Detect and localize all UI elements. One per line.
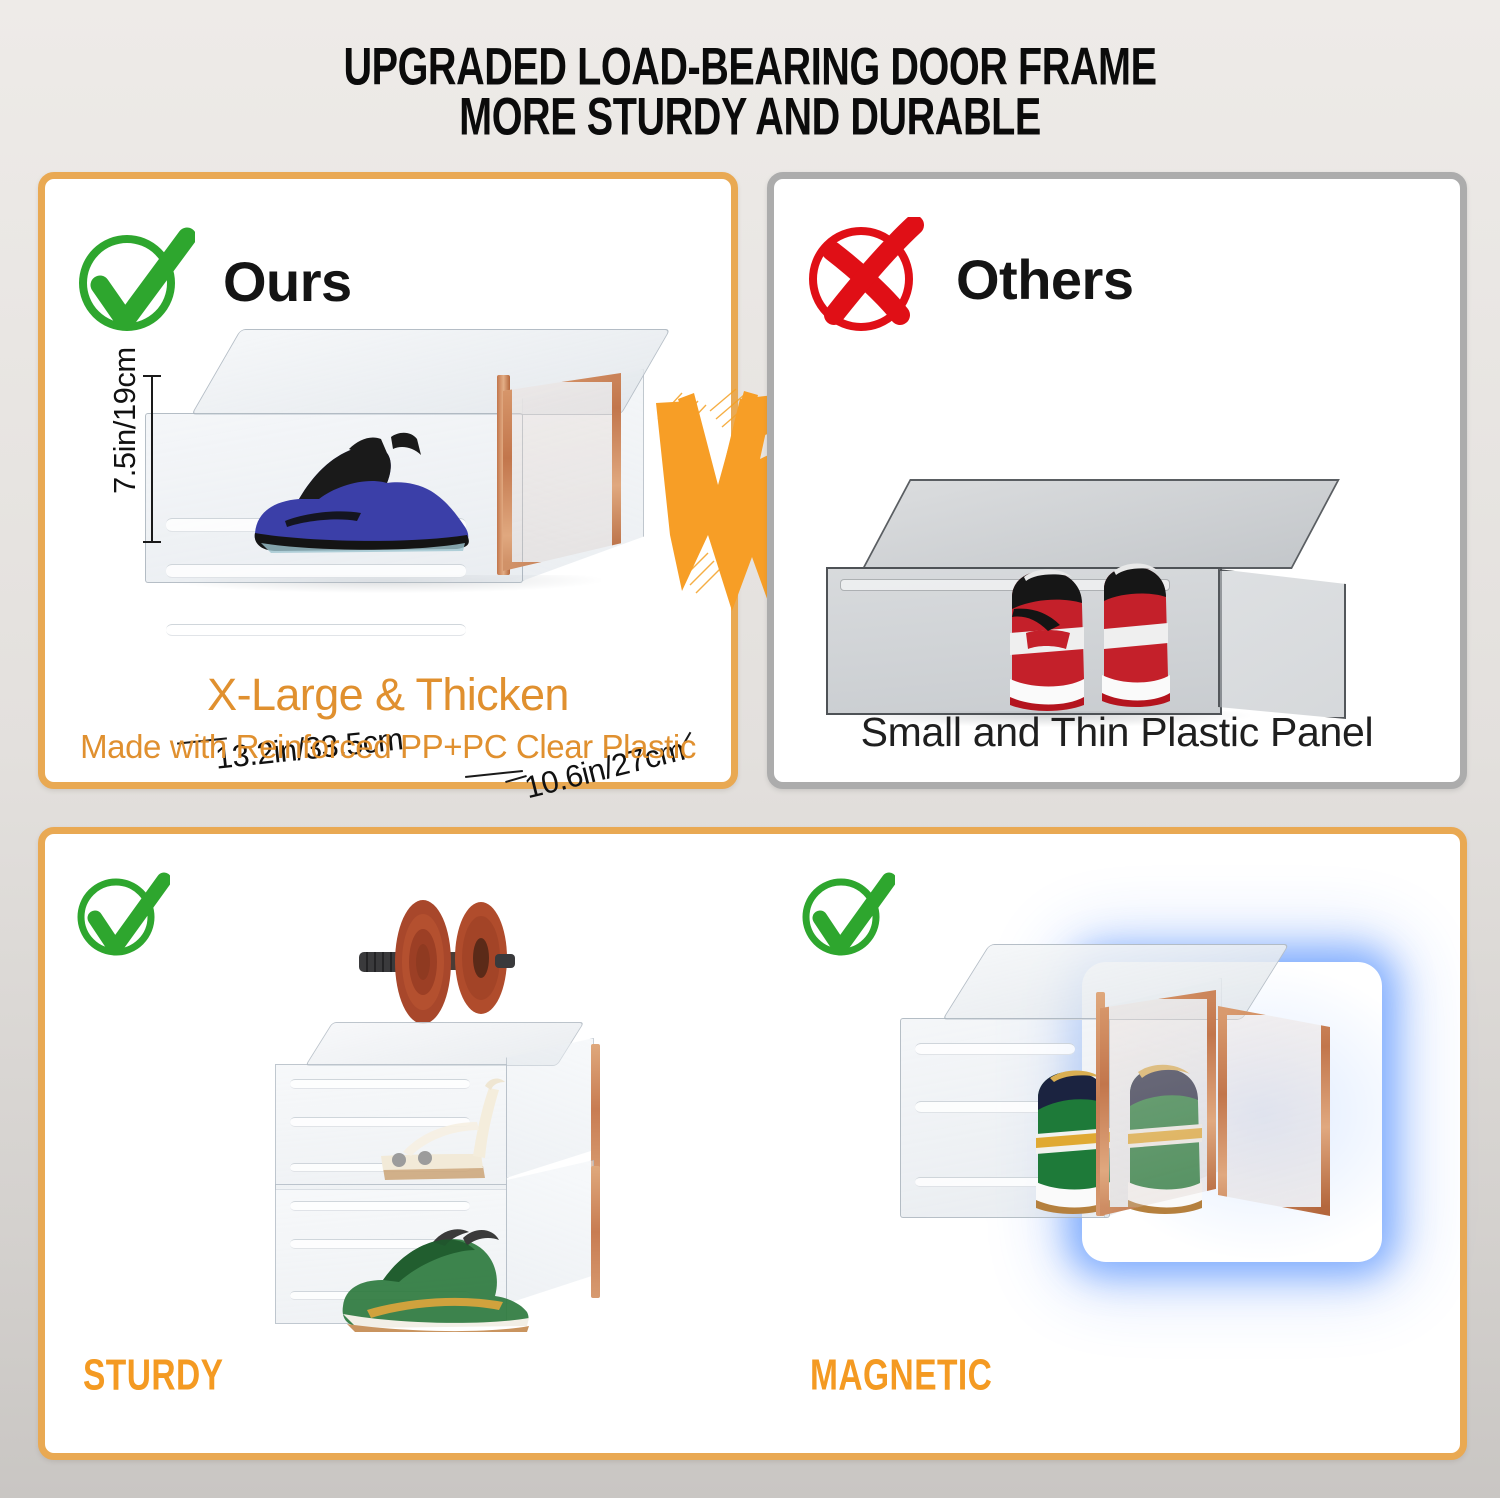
- thin-plastic-door-panel: [1218, 569, 1346, 719]
- caption-ours-headline: X-Large & Thicken: [45, 669, 731, 721]
- box-ridge: [290, 1201, 470, 1211]
- green-check-circle-icon: [75, 872, 170, 962]
- box-ridge: [166, 624, 466, 636]
- panel-bottom-features: STURDY: [38, 827, 1467, 1460]
- box-door-open-panel: [1218, 1006, 1330, 1216]
- dumbbell-icon: [345, 894, 535, 1034]
- stacked-box-lower: [275, 1184, 605, 1374]
- stacked-box-upper: [275, 1022, 605, 1192]
- green-check-circle-icon: [800, 872, 895, 962]
- product-image-sturdy: [225, 894, 665, 1374]
- sneaker-blue: [241, 415, 491, 565]
- page-title-line-2: MORE STURDY AND DURABLE: [90, 88, 1410, 147]
- page-title: UPGRADED LOAD-BEARING DOOR FRAME MORE ST…: [0, 42, 1500, 142]
- caption-ours-subtext: Made with Reinforced PP+PC Clear Plastic: [45, 728, 731, 766]
- dimension-tick-top: [143, 375, 161, 377]
- panel-ours: Ours: [38, 172, 738, 789]
- panel-others: Others Small and Thin Plastic Panel: [767, 172, 1467, 789]
- box-ridge: [166, 564, 466, 578]
- copper-door-edge: [591, 1044, 600, 1174]
- feature-label-sturdy: STURDY: [83, 1351, 223, 1400]
- dimension-label-height: 7.5in/19cm: [107, 347, 143, 494]
- caption-others: Small and Thin Plastic Panel: [774, 709, 1460, 756]
- badge-label-ours: Ours: [223, 249, 352, 314]
- copper-door-edge: [591, 1166, 600, 1298]
- product-image-magnetic: [900, 944, 1400, 1344]
- dimension-line-width-right: [465, 770, 523, 778]
- sneaker-green-dino: [337, 1214, 537, 1334]
- product-image-ours-box: [145, 329, 685, 629]
- dimension-line-height: [151, 375, 153, 543]
- green-check-circle-icon: [75, 227, 195, 337]
- high-heel-sandal: [373, 1070, 523, 1188]
- box-door-copper-frame: [503, 373, 621, 571]
- sneakers-red: [978, 537, 1238, 727]
- box-door-copper-frame: [1100, 990, 1216, 1216]
- feature-label-magnetic: MAGNETIC: [810, 1351, 992, 1400]
- red-cross-circle-icon: [804, 217, 924, 337]
- dimension-tick-bottom: [143, 541, 161, 543]
- badge-label-others: Others: [956, 247, 1134, 312]
